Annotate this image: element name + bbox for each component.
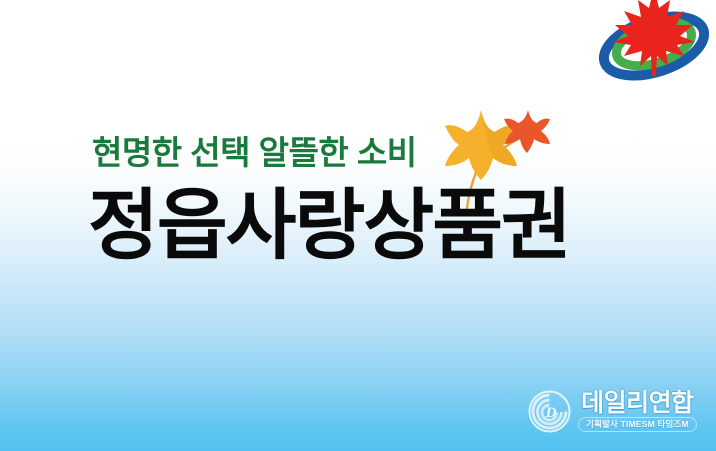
large-maple-leaf-icon — [445, 110, 517, 180]
watermark-letter: D — [545, 405, 557, 421]
watermark-title: 데일리연합 — [581, 391, 694, 416]
page-title: 정읍사랑상품권 — [88, 186, 570, 267]
small-maple-leaf-icon — [504, 110, 550, 153]
banner-tagline: 현명한 선택 알뜰한 소비 — [92, 136, 417, 169]
gift-certificate-banner: 현명한 선택 알뜰한 소비 정읍사랑상품권 — [0, 0, 716, 451]
press-watermark: D 데일리연합 기획발사 TIMESM 타임즈M — [528, 383, 706, 439]
daily-union-spiral-logo-icon: D — [528, 390, 571, 433]
watermark-subtitle: 기획발사 TIMESM 타임즈M — [578, 417, 697, 432]
jeongeup-city-emblem — [592, 0, 716, 88]
